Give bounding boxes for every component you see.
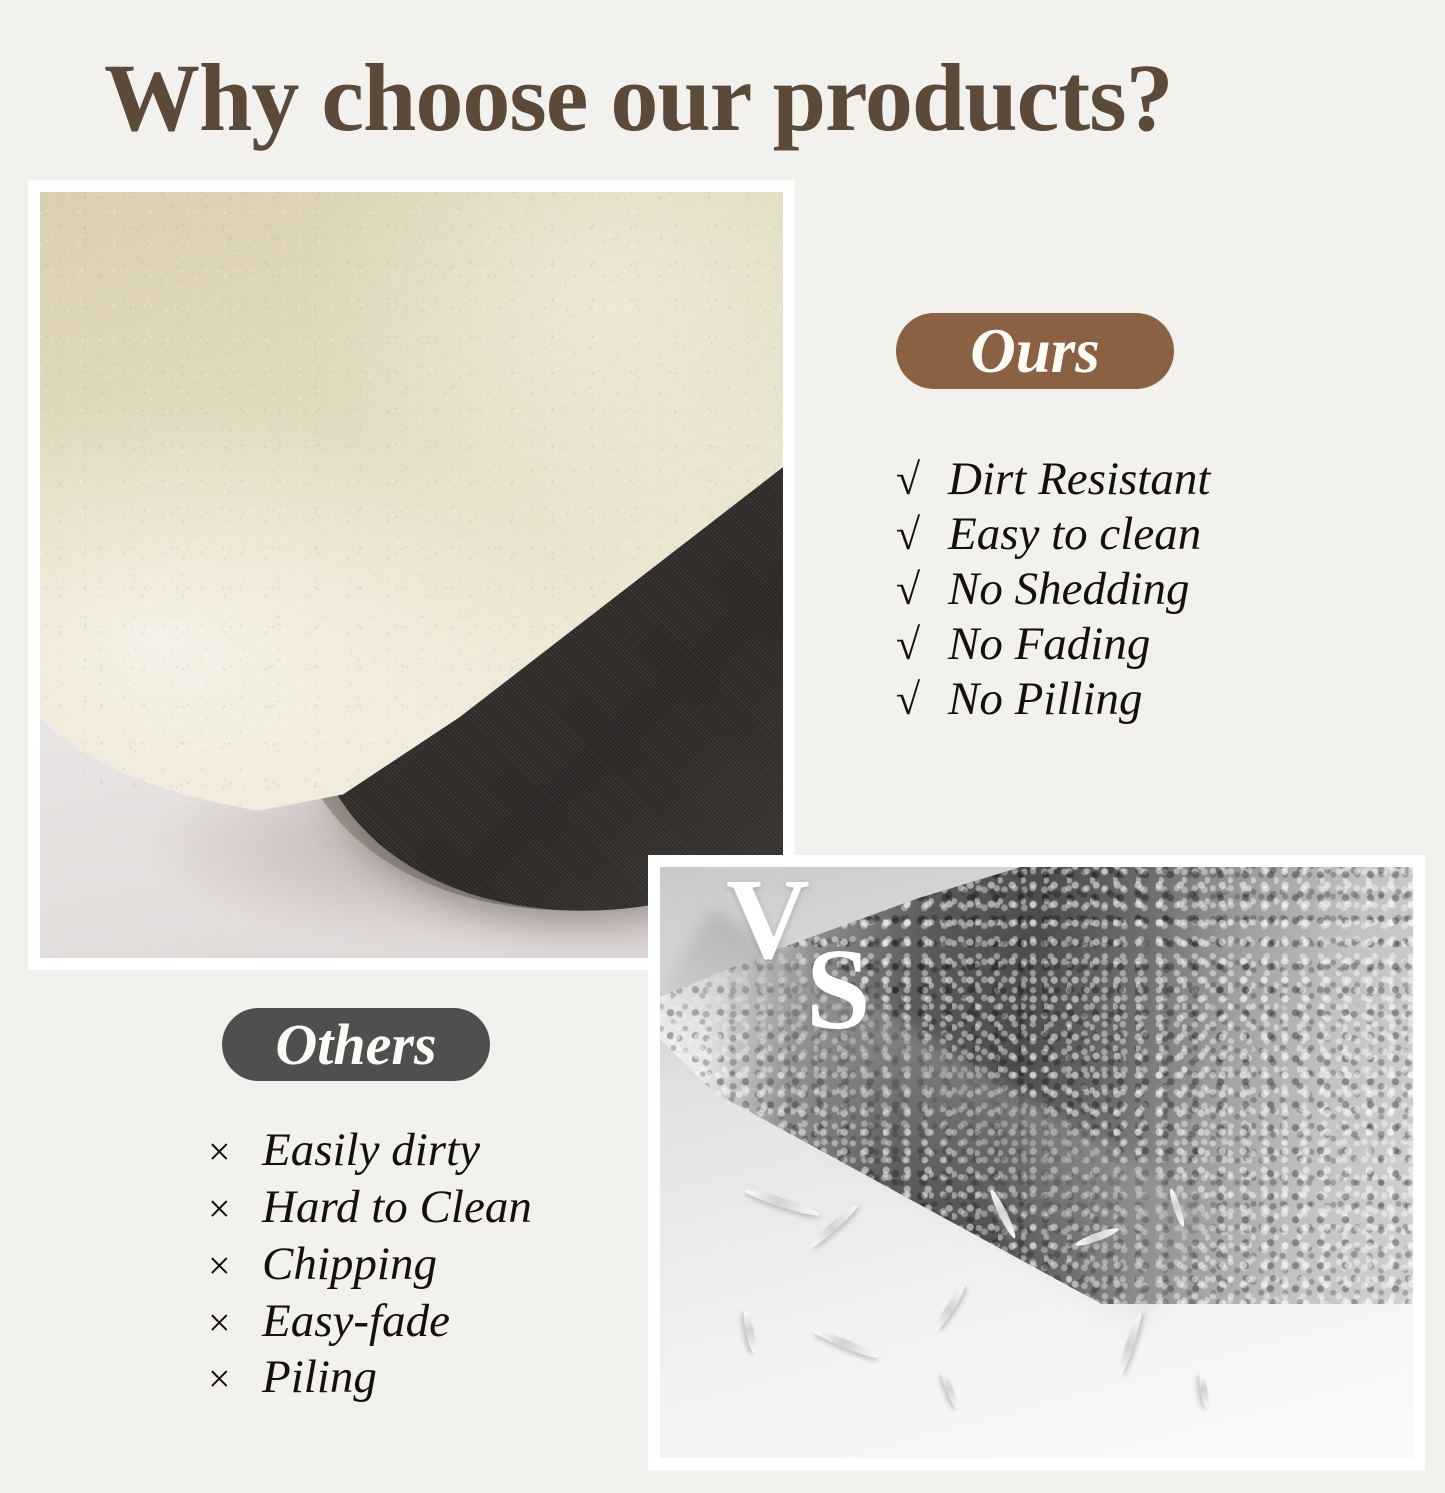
- feature-label: No Fading: [948, 617, 1150, 672]
- feature-label: Easy-fade: [262, 1293, 450, 1350]
- list-item: √ No Fading: [896, 617, 1210, 672]
- list-item: √ Dirt Resistant: [896, 452, 1210, 507]
- suede-mat-photo: [40, 192, 783, 958]
- ours-badge: Ours: [896, 313, 1174, 389]
- others-image: [660, 867, 1413, 1458]
- feature-label: Hard to Clean: [262, 1179, 532, 1236]
- check-icon: √: [896, 454, 948, 505]
- cross-icon: ×: [208, 1185, 262, 1233]
- feature-label: No Pilling: [948, 672, 1143, 727]
- list-item: √ No Shedding: [896, 562, 1210, 617]
- others-image-panel: [648, 855, 1425, 1470]
- ours-feature-list: √ Dirt Resistant √ Easy to clean √ No Sh…: [896, 452, 1210, 727]
- page-title: Why choose our products?: [104, 46, 1394, 150]
- ours-image: [40, 192, 783, 958]
- check-icon: √: [896, 564, 948, 615]
- others-feature-list: × Easily dirty × Hard to Clean × Chippin…: [208, 1122, 532, 1406]
- feature-label: No Shedding: [948, 562, 1190, 617]
- feature-label: Chipping: [262, 1236, 437, 1293]
- cross-icon: ×: [208, 1355, 262, 1403]
- infographic-root: Why choose our products?: [0, 0, 1445, 1493]
- shaggy-rug-photo: [660, 867, 1413, 1458]
- feature-label: Easily dirty: [262, 1122, 480, 1179]
- list-item: √ Easy to clean: [896, 507, 1210, 562]
- others-badge: Others: [222, 1008, 490, 1081]
- check-icon: √: [896, 509, 948, 560]
- ours-image-panel: [28, 180, 795, 970]
- list-item: × Piling: [208, 1349, 532, 1406]
- feature-label: Piling: [262, 1349, 377, 1406]
- list-item: × Easy-fade: [208, 1293, 532, 1350]
- cross-icon: ×: [208, 1242, 262, 1290]
- feature-label: Dirt Resistant: [948, 452, 1210, 507]
- list-item: × Hard to Clean: [208, 1179, 532, 1236]
- list-item: × Easily dirty: [208, 1122, 532, 1179]
- check-icon: √: [896, 619, 948, 670]
- check-icon: √: [896, 674, 948, 725]
- cross-icon: ×: [208, 1299, 262, 1347]
- list-item: × Chipping: [208, 1236, 532, 1293]
- feature-label: Easy to clean: [948, 507, 1201, 562]
- cross-icon: ×: [208, 1128, 262, 1176]
- list-item: √ No Pilling: [896, 672, 1210, 727]
